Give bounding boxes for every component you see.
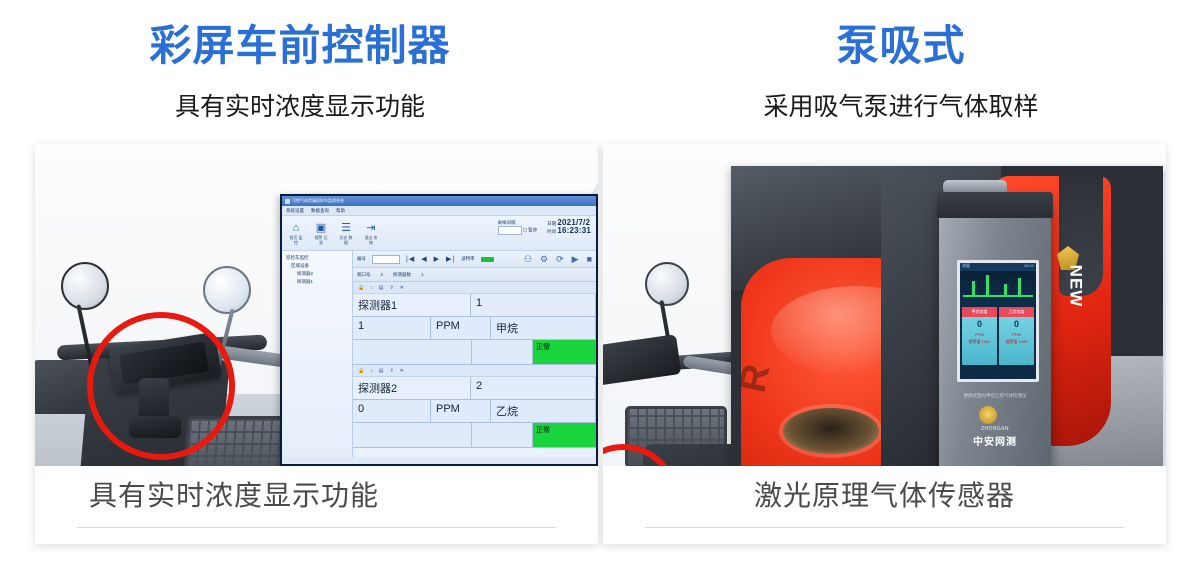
toolbar-report-button[interactable]: ▣ 报警 记录 (313, 222, 329, 245)
detector-2-concentration: 0 (353, 400, 431, 422)
methane-value: 0 (962, 317, 997, 331)
nav-prev-icon[interactable]: ◀ (421, 255, 427, 263)
controller-mount-r (603, 334, 681, 386)
pause-checkbox[interactable]: ☐ (523, 228, 527, 233)
field-label-id: 编号 (357, 256, 366, 262)
menu-item-settings[interactable]: 系统设置 (286, 208, 304, 214)
filter-icon-2[interactable]: ▤ (379, 368, 384, 374)
field-input-id[interactable] (372, 255, 400, 264)
toolbar-home-label: 首页 监控 (288, 235, 304, 245)
control-bar-secondary: 端口号 2 探测器数 1 (353, 268, 596, 282)
detector-1-status-pad2 (472, 340, 533, 364)
refresh-icon[interactable]: ⟳ (556, 254, 564, 265)
sampling-input[interactable] (498, 226, 522, 235)
detector-panel: 编号 |◀ ◀ ▶ ▶| 波特率 ⚇ ⚙ (353, 251, 596, 457)
highlight-circle (87, 312, 235, 460)
detector-2-index: 2 (471, 377, 596, 399)
detector-2-status-bar: 正常 (533, 423, 596, 447)
toolbar-report-label: 报警 记录 (313, 235, 329, 245)
waveform-peak-2 (986, 275, 989, 297)
detector-2-data-row: 0 PPM 乙烷 (353, 400, 596, 423)
field-value-port: 2 (381, 272, 384, 277)
pause-label: 暂停 (528, 228, 537, 233)
exit-icon: ⇥ (363, 222, 379, 235)
vest-text: NEW (1066, 265, 1086, 308)
sort-icon-2[interactable]: ↕ (370, 368, 373, 374)
export-icon-2[interactable]: ⇪ (389, 368, 393, 374)
sampling-row: ☐ 暂停 (498, 226, 538, 235)
datetime-group: 日期 2021/7/2 时间 16:23:31 (547, 219, 591, 235)
nav-next-icon[interactable]: ▶ (434, 255, 440, 263)
detector-1-status-label: 正常 (536, 342, 550, 352)
methane-unit: PPM (962, 331, 997, 338)
toolbar-right-group: 采样间隔 ☐ 暂停 日期 2021/7/2 (498, 219, 591, 235)
methane-header: 甲烷浓度 (962, 307, 997, 317)
detector-2-minibar: 🔒 ↕ ▤ ⇪ ✕ (353, 365, 596, 377)
tarp-grommet (783, 408, 879, 454)
ethane-value: 0 (999, 317, 1034, 331)
screen-title-left: 测量 (962, 263, 970, 271)
tree-node-2-label[interactable]: 探测器2 (297, 271, 313, 276)
detector-1-status-pad (353, 340, 472, 364)
time-row: 时间 16:23:31 (547, 227, 591, 235)
waveform-peak-1 (972, 281, 975, 297)
menu-item-help[interactable]: 帮助 (336, 208, 345, 214)
detector-block-2: 🔒 ↕ ▤ ⇪ ✕ 探测器2 2 (353, 365, 596, 448)
tree-root[interactable]: 巡检车监控 (284, 254, 350, 262)
mirror-right-glass (203, 266, 251, 314)
toolbar-exit-label: 退出 系统 (363, 235, 379, 245)
software-monitor: 可燃气体泄漏巡检车监测系统 系统设置 数据查询 帮助 ⌂ 首页 监控 ▣ (280, 194, 598, 506)
detector-1-name: 探测器1 (353, 294, 471, 316)
toolbar-history-button[interactable]: ☰ 历史 数据 (338, 222, 354, 245)
detector-screen: 测量 04:11 甲烷浓度 0 PPM (957, 260, 1039, 382)
detector-2-gas: 乙烷 (491, 400, 596, 422)
detector-1-concentration: 1 (353, 317, 431, 339)
detector-1-index: 1 (471, 294, 596, 316)
panel-right: 泵吸式 采用吸气泵进行气体取样 R (601, 0, 1201, 580)
left-subhead: 具有实时浓度显示功能 (0, 92, 600, 122)
stop-icon[interactable]: ■ (587, 254, 592, 264)
ethane-header: 乙烷浓度 (999, 307, 1034, 317)
left-caption-text: 具有实时浓度显示功能 (35, 474, 598, 514)
home-icon: ⌂ (288, 222, 304, 235)
detector-waveform (960, 271, 1036, 305)
toolbar-home-button[interactable]: ⌂ 首页 监控 (288, 222, 304, 245)
left-caption: 具有实时浓度显示功能 (35, 466, 598, 544)
detector-2-status-pad (353, 423, 472, 447)
sampling-label: 采样间隔 (498, 219, 538, 226)
time-value: 16:23:31 (557, 226, 591, 235)
window-body: 巡检车监控 区域设备 探测器2 探测器1 编号 |◀ (282, 251, 596, 457)
right-subhead: 采用吸气泵进行气体取样 (601, 92, 1201, 122)
ethane-alarm: 报警值 1000 (999, 338, 1034, 345)
lock-icon-2[interactable]: 🔒 (358, 368, 364, 374)
brand-name-en: ZHONGAN (953, 426, 1037, 432)
readout-card-methane: 甲烷浓度 0 PPM 报警值 1000 (962, 307, 997, 365)
detector-2-unit: PPM (431, 400, 491, 422)
toolbar-history-label: 历史 数据 (338, 235, 354, 245)
detector-1-header-row: 探测器1 1 (353, 294, 596, 317)
detector-1-status-row: 正常 (353, 340, 596, 364)
left-headline: 彩屏车前控制器 (0, 22, 600, 69)
connection-indicator (481, 257, 494, 262)
field-value-count: 1 (421, 272, 424, 277)
close-icon[interactable]: ✕ (400, 285, 404, 291)
detector-2-status-label: 正常 (536, 425, 550, 435)
close-icon-2[interactable]: ✕ (400, 368, 404, 374)
detector-2-name: 探测器2 (353, 377, 471, 399)
network-icon[interactable]: ⚇ (524, 254, 532, 265)
methane-alarm: 报警值 1000 (962, 338, 997, 345)
field-label-baud: 波特率 (461, 256, 475, 262)
sampling-group: 采样间隔 ☐ 暂停 (498, 219, 538, 235)
right-headline: 泵吸式 (601, 22, 1201, 69)
detector-2-status-row: 正常 (353, 423, 596, 447)
lock-icon[interactable]: 🔒 (358, 285, 364, 291)
menu-item-query[interactable]: 数据查询 (311, 208, 329, 214)
left-photo-card: 可燃气体泄漏巡检车监测系统 系统设置 数据查询 帮助 ⌂ 首页 监控 ▣ (35, 144, 598, 544)
time-label: 时间 (547, 229, 556, 234)
report-icon: ▣ (313, 222, 329, 235)
window-menubar[interactable]: 系统设置 数据查询 帮助 (282, 206, 596, 216)
detector-1-unit: PPM (431, 317, 491, 339)
mirror-left-glass (61, 262, 109, 310)
play-icon[interactable]: ▶ (572, 254, 579, 265)
waveform-peak-4 (1018, 278, 1021, 297)
right-photo-card: R NEW 测量 04:11 (603, 144, 1166, 544)
toolbar-exit-button[interactable]: ⇥ 退出 系统 (363, 222, 379, 245)
control-bar: 编号 |◀ ◀ ▶ ▶| 波特率 ⚇ ⚙ (353, 251, 596, 268)
detector-1-gas: 甲烷 (491, 317, 596, 339)
filter-icon[interactable]: ▤ (379, 285, 384, 291)
brand-name-cn: 中安网测 (953, 433, 1037, 448)
detector-1-data-row: 1 PPM 甲烷 (353, 317, 596, 340)
tree-node-2[interactable]: 探测器2 (284, 270, 350, 278)
date-label: 日期 (547, 221, 556, 226)
mirror-right-panel-glass (645, 262, 689, 306)
ethane-unit: PPM (999, 331, 1034, 338)
left-caption-rule (77, 527, 556, 528)
sort-icon[interactable]: ↕ (370, 285, 373, 291)
detector-top-cap (937, 192, 1053, 218)
detector-screen-header: 测量 04:11 (960, 263, 1036, 271)
right-caption-rule (645, 527, 1124, 528)
brand-emblem-icon (979, 406, 997, 424)
gear-icon[interactable]: ⚙ (540, 254, 548, 265)
control-icon-group: ⚇ ⚙ ⟳ ▶ ■ (524, 254, 592, 265)
detector-closeup: R NEW 测量 04:11 (731, 166, 1163, 506)
list-icon: ☰ (338, 222, 354, 235)
right-caption-text: 激光原理气体传感器 (603, 474, 1166, 514)
field-label-port: 端口号 (357, 272, 371, 278)
tree-group[interactable]: 区域设备 (284, 262, 350, 270)
detector-1-status-bar: 正常 (533, 340, 596, 364)
nav-last-icon[interactable]: ▶| (446, 255, 455, 263)
window-icon (285, 199, 290, 204)
detector-2-header-row: 探测器2 2 (353, 377, 596, 400)
detector-body-label: 便携式激光甲烷乙烷气体检测仪 (945, 392, 1045, 399)
window-title: 可燃气体泄漏巡检车监测系统 (292, 198, 344, 204)
right-caption: 激光原理气体传感器 (603, 466, 1166, 544)
field-label-count: 探测器数 (393, 272, 411, 278)
detector-1-minibar: 🔒 ↕ ▤ ⇪ ✕ (353, 282, 596, 294)
tree-node-1[interactable]: 探测器1 (284, 278, 350, 286)
export-icon[interactable]: ⇪ (389, 285, 393, 291)
software-window: 可燃气体泄漏巡检车监测系统 系统设置 数据查询 帮助 ⌂ 首页 监控 ▣ (282, 196, 596, 464)
window-toolbar: ⌂ 首页 监控 ▣ 报警 记录 ☰ 历史 数据 ⇥ (282, 216, 596, 251)
detector-readout-cards: 甲烷浓度 0 PPM 报警值 1000 乙烷浓度 0 PPM 报警值 1000 (960, 305, 1036, 367)
detector-block-1: 🔒 ↕ ▤ ⇪ ✕ 探测器1 1 (353, 282, 596, 365)
readout-card-ethane: 乙烷浓度 0 PPM 报警值 1000 (999, 307, 1034, 365)
screen-title-right: 04:11 (1024, 263, 1034, 271)
waveform-peak-3 (1004, 284, 1007, 297)
detector-2-status-pad2 (472, 423, 533, 447)
nav-first-icon[interactable]: |◀ (406, 255, 415, 263)
panel-left: 彩屏车前控制器 具有实时浓度显示功能 (0, 0, 600, 580)
window-titlebar: 可燃气体泄漏巡检车监测系统 (282, 196, 596, 206)
device-tree[interactable]: 巡检车监控 区域设备 探测器2 探测器1 (282, 251, 353, 457)
